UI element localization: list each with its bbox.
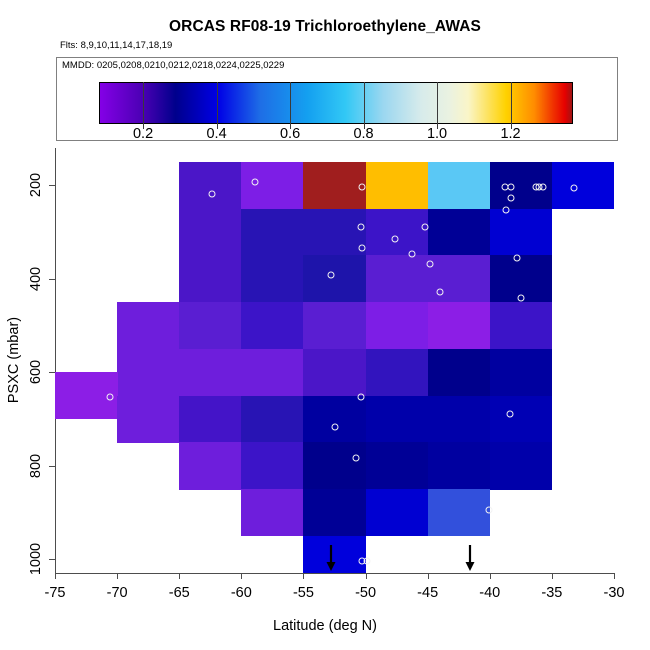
sample-point: [540, 183, 547, 190]
colorbar-tick-label: 0.4: [206, 126, 226, 142]
sample-point: [208, 191, 215, 198]
mmdd-label: MMDD: 0205,0208,0210,0212,0218,0224,0225…: [62, 60, 284, 71]
y-axis-tick-label: 800: [28, 453, 44, 477]
sample-point: [571, 184, 578, 191]
colorbar[interactable]: [99, 82, 573, 124]
x-axis-tick: [117, 573, 118, 579]
x-axis-tick-label: -70: [107, 585, 128, 601]
sample-point: [331, 423, 338, 430]
y-axis-tick: [49, 466, 55, 467]
x-axis-tick-label: -30: [604, 585, 625, 601]
x-axis-tick: [366, 573, 367, 579]
sample-point: [506, 411, 513, 418]
sample-points: [55, 148, 614, 573]
sample-point: [251, 178, 258, 185]
latitude-marker-arrow: [325, 545, 336, 571]
y-axis-tick-label: 1000: [28, 543, 44, 575]
sample-point: [507, 194, 514, 201]
plot-area[interactable]: [55, 148, 614, 573]
colorbar-tick-label: 0.8: [353, 126, 373, 142]
colorbar-divider: [511, 82, 512, 124]
y-axis-tick-label: 600: [28, 360, 44, 384]
x-axis-tick: [241, 573, 242, 579]
flights-label: Flts: 8,9,10,11,14,17,18,19: [60, 40, 172, 51]
sample-point: [392, 235, 399, 242]
x-axis-tick: [490, 573, 491, 579]
x-axis-tick-label: -45: [417, 585, 438, 601]
y-axis-title: PSXC (mbar): [6, 317, 22, 403]
sample-point: [437, 288, 444, 295]
sample-point: [357, 394, 364, 401]
x-axis-tick: [55, 573, 56, 579]
sample-point: [408, 251, 415, 258]
x-axis-tick-label: -35: [541, 585, 562, 601]
y-axis-tick: [49, 372, 55, 373]
sample-point: [106, 393, 113, 400]
latitude-marker-arrow: [464, 545, 475, 571]
colorbar-divider: [143, 82, 144, 124]
colorbar-tick-label: 0.6: [280, 126, 300, 142]
sample-point: [358, 183, 365, 190]
y-axis-tick-label: 200: [28, 173, 44, 197]
x-axis-tick-label: -50: [355, 585, 376, 601]
colorbar-gradient: [100, 83, 572, 123]
sample-point: [363, 558, 370, 565]
colorbar-tick-label: 1.0: [427, 126, 447, 142]
x-axis-tick-label: -65: [169, 585, 190, 601]
page-title: ORCAS RF08-19 Trichloroethylene_AWAS: [0, 18, 650, 36]
sample-point: [357, 223, 364, 230]
colorbar-divider: [437, 82, 438, 124]
colorbar-tick-label: 0.2: [133, 126, 153, 142]
x-axis-tick-label: -75: [45, 585, 66, 601]
x-axis-tick: [614, 573, 615, 579]
y-axis-tick: [49, 559, 55, 560]
y-axis-tick-label: 400: [28, 267, 44, 291]
x-axis-tick-label: -60: [231, 585, 252, 601]
y-axis-tick: [49, 185, 55, 186]
x-axis-tick: [179, 573, 180, 579]
colorbar-divider: [217, 82, 218, 124]
sample-point: [502, 207, 509, 214]
sample-point: [514, 255, 521, 262]
x-axis-tick-label: -55: [293, 585, 314, 601]
y-axis-tick: [49, 279, 55, 280]
colorbar-tick-label: 1.2: [500, 126, 520, 142]
x-axis-line: [55, 573, 614, 574]
sample-point: [422, 224, 429, 231]
sample-point: [352, 455, 359, 462]
x-axis-tick: [303, 573, 304, 579]
sample-point: [485, 506, 492, 513]
sample-point: [358, 244, 365, 251]
colorbar-divider: [290, 82, 291, 124]
sample-point: [517, 294, 524, 301]
x-axis-tick: [428, 573, 429, 579]
x-axis-tick: [552, 573, 553, 579]
sample-point: [327, 272, 334, 279]
x-axis-title: Latitude (deg N): [0, 618, 650, 634]
sample-point: [427, 261, 434, 268]
sample-point: [507, 183, 514, 190]
colorbar-divider: [364, 82, 365, 124]
chart-root: ORCAS RF08-19 Trichloroethylene_AWAS Flt…: [0, 0, 650, 650]
x-axis-tick-label: -40: [479, 585, 500, 601]
